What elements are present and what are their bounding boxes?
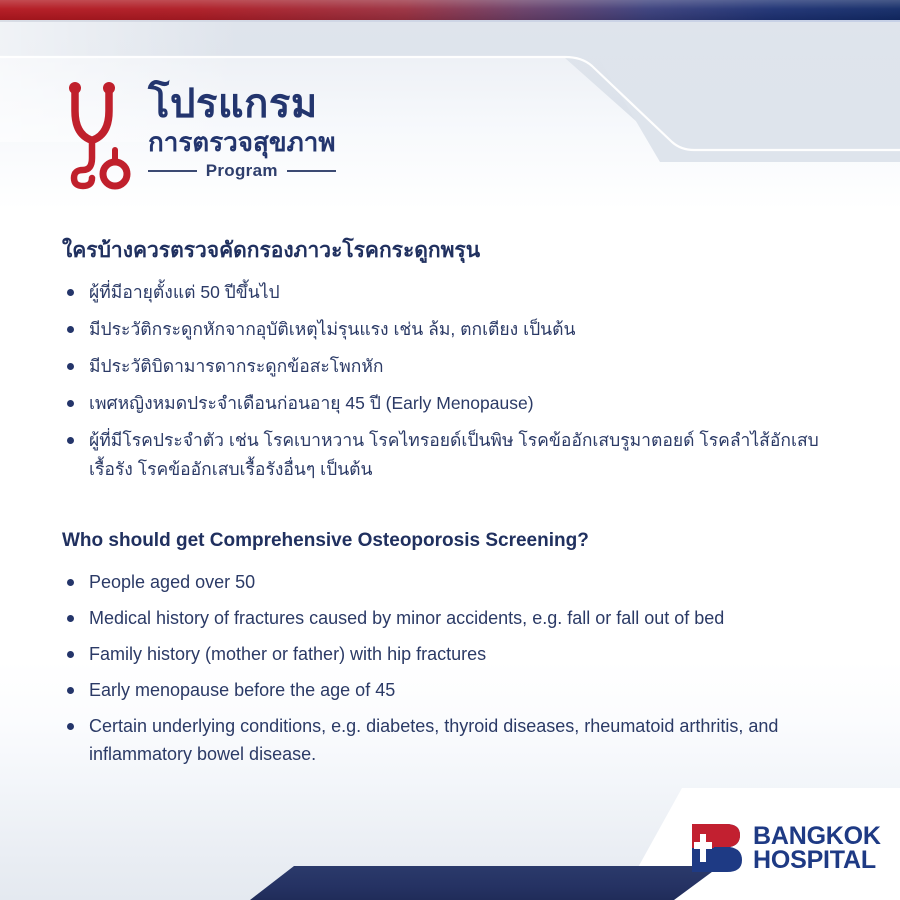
- program-title-thai: โปรแกรม: [148, 82, 318, 126]
- bangkok-hospital-logo: BANGKOK HOSPITAL: [690, 822, 881, 874]
- list-item: เพศหญิงหมดประจำเดือนก่อนอายุ 45 ปี (Earl…: [62, 389, 862, 418]
- list-item: Certain underlying conditions, e.g. diab…: [62, 712, 862, 768]
- english-section: Who should get Comprehensive Osteoporosi…: [62, 528, 862, 768]
- english-bullet-list: People aged over 50 Medical history of f…: [62, 568, 862, 768]
- top-bar-edge-line: [0, 20, 900, 22]
- program-rule-left: [148, 170, 197, 172]
- program-subtitle-thai: การตรวจสุขภาพ: [148, 127, 336, 157]
- program-brand-text: โปรแกรม การตรวจสุขภาพ Program: [148, 78, 336, 181]
- list-item: People aged over 50: [62, 568, 862, 596]
- footer-navy-bar: [250, 866, 720, 900]
- stethoscope-icon: [62, 78, 138, 190]
- program-brand-lockup: โปรแกรม การตรวจสุขภาพ Program: [62, 78, 336, 190]
- list-item: มีประวัติกระดูกหักจากอุบัติเหตุไม่รุนแรง…: [62, 315, 862, 344]
- thai-heading: ใครบ้างควรตรวจคัดกรองภาวะโรคกระดูกพรุน: [62, 236, 862, 266]
- hospital-logo-line1: BANGKOK: [753, 824, 881, 848]
- thai-bullet-list: ผู้ที่มีอายุตั้งแต่ 50 ปีขึ้นไป มีประวัต…: [62, 278, 862, 484]
- hospital-logo-wordmark: BANGKOK HOSPITAL: [753, 824, 881, 872]
- thai-section: ใครบ้างควรตรวจคัดกรองภาวะโรคกระดูกพรุน ผ…: [62, 236, 862, 484]
- program-label-row: Program: [148, 161, 336, 181]
- list-item: Early menopause before the age of 45: [62, 676, 862, 704]
- list-item: มีประวัติบิดามารดากระดูกข้อสะโพกหัก: [62, 352, 862, 381]
- hospital-logo-line2: HOSPITAL: [753, 848, 881, 872]
- list-item: Family history (mother or father) with h…: [62, 640, 862, 668]
- poster-canvas: โปรแกรม การตรวจสุขภาพ Program ใครบ้างควร…: [0, 0, 900, 900]
- program-rule-right: [287, 170, 336, 172]
- english-heading: Who should get Comprehensive Osteoporosi…: [62, 528, 862, 554]
- list-item: ผู้ที่มีโรคประจำตัว เช่น โรคเบาหวาน โรคไ…: [62, 426, 862, 484]
- list-item: Medical history of fractures caused by m…: [62, 604, 862, 632]
- top-gradient-bar-gloss: [0, 0, 900, 20]
- list-item: ผู้ที่มีอายุตั้งแต่ 50 ปีขึ้นไป: [62, 278, 862, 307]
- bangkok-hospital-b-cross-icon: [690, 822, 744, 874]
- content-area: ใครบ้างควรตรวจคัดกรองภาวะโรคกระดูกพรุน ผ…: [62, 236, 862, 776]
- program-label: Program: [206, 161, 278, 181]
